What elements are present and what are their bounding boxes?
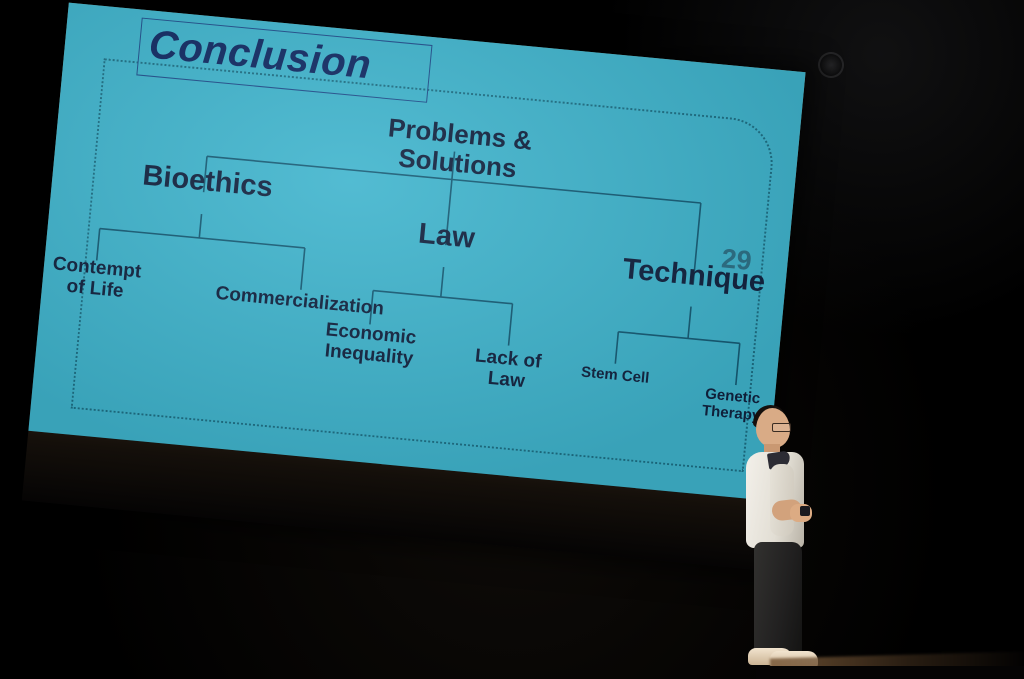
stage-front-face xyxy=(756,666,1024,679)
tree-connector-lines xyxy=(28,3,805,501)
presenter-clicker xyxy=(800,506,810,516)
screenshot-root: Conclusion 29 xyxy=(0,0,1024,679)
projected-slide: Conclusion 29 xyxy=(28,3,805,501)
presenter xyxy=(744,408,854,673)
glasses-icon xyxy=(772,423,791,432)
presenter-pants xyxy=(754,542,802,654)
